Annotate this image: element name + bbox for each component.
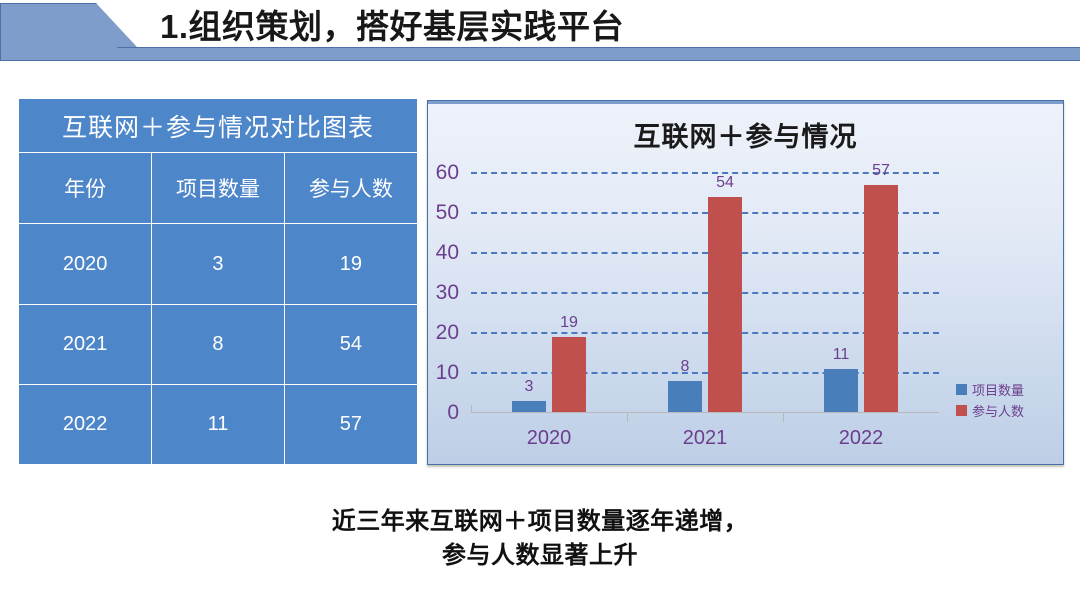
caption-line-1: 近三年来互联网＋项目数量逐年递增， xyxy=(0,505,1080,539)
cell-year-2021: 2021 xyxy=(19,304,152,384)
cell-year-2020: 2020 xyxy=(19,224,152,304)
table-row: 2020 3 19 xyxy=(19,224,417,304)
legend-swatch-icon xyxy=(956,384,967,395)
bar-项目数量-2021: 8 xyxy=(668,381,702,413)
bar-value-label-项目数量-2020: 3 xyxy=(525,378,534,396)
bar-参与人数-2020: 19 xyxy=(552,337,586,413)
cell-projects-2022: 11 xyxy=(152,384,285,464)
bar-value-label-项目数量-2022: 11 xyxy=(833,346,850,364)
cell-projects-2021: 8 xyxy=(152,304,285,384)
column-header-year: 年份 xyxy=(19,153,152,224)
legend-item-参与人数: 参与人数 xyxy=(956,400,1056,421)
page-title: 1.组织策划，搭好基层实践平台 xyxy=(160,6,980,48)
y-axis-tick-30: 30 xyxy=(436,281,459,305)
x-axis-tick-2020: 2020 xyxy=(527,427,572,450)
bar-参与人数-2021: 54 xyxy=(708,197,742,413)
y-axis-tick-0: 0 xyxy=(447,401,459,425)
x-axis-line xyxy=(471,412,939,413)
y-axis-base-tick xyxy=(471,405,472,413)
table-row: 2021 8 54 xyxy=(19,304,417,384)
chart-title: 互联网＋参与情况 xyxy=(428,115,1063,154)
table-header-row: 年份 项目数量 参与人数 xyxy=(19,153,417,224)
cell-year-2022: 2022 xyxy=(19,384,152,464)
column-header-attendees: 参与人数 xyxy=(284,153,417,224)
slide-caption: 近三年来互联网＋项目数量逐年递增， 参与人数显著上升 xyxy=(0,505,1080,573)
cell-attendees-2021: 54 xyxy=(284,304,417,384)
gridline-60 xyxy=(471,172,939,174)
legend-swatch-icon xyxy=(956,405,967,416)
bar-参与人数-2022: 57 xyxy=(864,185,898,413)
column-header-projects: 项目数量 xyxy=(152,153,285,224)
cell-attendees-2022: 57 xyxy=(284,384,417,464)
chart-legend: 项目数量参与人数 xyxy=(956,379,1056,421)
y-axis-tick-60: 60 xyxy=(436,161,459,185)
y-axis-tick-40: 40 xyxy=(436,241,459,265)
y-axis-tick-10: 10 xyxy=(436,361,459,385)
banner-horizontal-strip xyxy=(96,47,1080,61)
chart-top-rule xyxy=(428,101,1063,104)
category-separator-2 xyxy=(783,413,784,422)
legend-label: 参与人数 xyxy=(972,401,1024,420)
bar-chart-panel: 互联网＋参与情况 0102030405060 3198541157 202020… xyxy=(427,100,1064,465)
cell-projects-2020: 3 xyxy=(152,224,285,304)
bar-value-label-参与人数-2022: 57 xyxy=(872,162,890,180)
cell-attendees-2020: 19 xyxy=(284,224,417,304)
legend-item-项目数量: 项目数量 xyxy=(956,379,1056,400)
x-axis-tick-2021: 2021 xyxy=(683,427,728,450)
bar-value-label-参与人数-2020: 19 xyxy=(560,314,578,332)
y-axis-tick-20: 20 xyxy=(436,321,459,345)
y-axis-tick-50: 50 xyxy=(436,201,459,225)
slide-header-banner: 1.组织策划，搭好基层实践平台 xyxy=(0,0,1080,66)
category-separator-1 xyxy=(627,413,628,422)
table-title-row: 互联网＋参与情况对比图表 xyxy=(19,99,417,153)
caption-line-2: 参与人数显著上升 xyxy=(0,539,1080,573)
table-row: 2022 11 57 xyxy=(19,384,417,464)
bar-value-label-项目数量-2021: 8 xyxy=(681,358,690,376)
bar-项目数量-2022: 11 xyxy=(824,369,858,413)
chart-plot-area: 0102030405060 3198541157 202020212022 xyxy=(471,173,939,413)
table-title-cell: 互联网＋参与情况对比图表 xyxy=(19,99,417,153)
x-axis-tick-2022: 2022 xyxy=(839,427,884,450)
legend-label: 项目数量 xyxy=(972,380,1024,399)
comparison-table: 互联网＋参与情况对比图表 年份 项目数量 参与人数 2020 3 19 2021… xyxy=(19,99,417,464)
bar-value-label-参与人数-2021: 54 xyxy=(716,174,734,192)
